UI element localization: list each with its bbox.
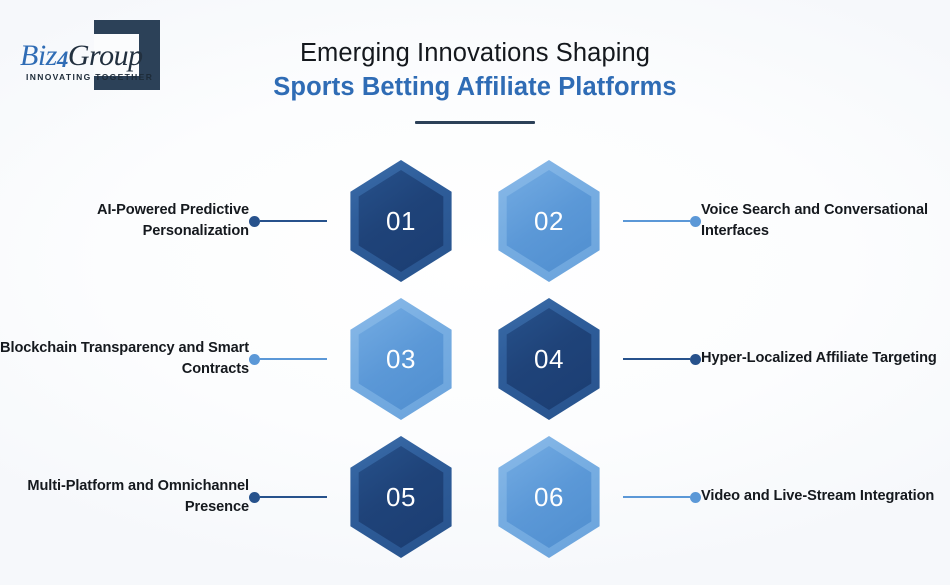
connector-02 — [623, 216, 701, 227]
hexagon-02[interactable]: 02 — [494, 160, 604, 282]
title-underline-rule — [415, 121, 535, 124]
hexagon-number-03: 03 — [346, 298, 456, 420]
hex-slot-03: 03 — [327, 298, 475, 420]
connector-05 — [249, 492, 327, 503]
item-cell-03[interactable]: Blockchain Transparency and Smart Contra… — [0, 338, 249, 380]
items-grid: AI-Powered Predictive Personalization 01… — [0, 152, 950, 566]
connector-dot-05 — [249, 492, 260, 503]
hex-slot-05: 05 — [327, 436, 475, 558]
items-row: Blockchain Transparency and Smart Contra… — [0, 290, 950, 428]
hexagon-01[interactable]: 01 — [346, 160, 456, 282]
connector-dot-02 — [690, 216, 701, 227]
hexagon-04[interactable]: 04 — [494, 298, 604, 420]
connector-06 — [623, 492, 701, 503]
hex-slot-06: 06 — [475, 436, 623, 558]
connector-line-03 — [260, 358, 327, 360]
hexagon-06[interactable]: 06 — [494, 436, 604, 558]
connector-dot-06 — [690, 492, 701, 503]
connector-line-06 — [623, 496, 690, 498]
logo-word-four: 4 — [57, 47, 68, 72]
item-label-02: Voice Search and Conversational Interfac… — [701, 200, 950, 242]
items-row: AI-Powered Predictive Personalization 01… — [0, 152, 950, 290]
items-row: Multi-Platform and Omnichannel Presence … — [0, 428, 950, 566]
item-label-04: Hyper-Localized Affiliate Targeting — [701, 348, 937, 369]
item-label-01: AI-Powered Predictive Personalization — [0, 200, 249, 242]
hexagon-number-01: 01 — [346, 160, 456, 282]
item-cell-06[interactable]: Video and Live-Stream Integration — [701, 486, 950, 507]
connector-04 — [623, 354, 701, 365]
item-cell-01[interactable]: AI-Powered Predictive Personalization — [0, 200, 249, 242]
logo-wordmark: Biz4Group — [20, 39, 143, 73]
connector-line-05 — [260, 496, 327, 498]
hexagon-05[interactable]: 05 — [346, 436, 456, 558]
hexagon-number-04: 04 — [494, 298, 604, 420]
hexagon-03[interactable]: 03 — [346, 298, 456, 420]
connector-03 — [249, 354, 327, 365]
logo-word-biz: Biz — [20, 39, 57, 72]
connector-line-01 — [260, 220, 327, 222]
hex-slot-02: 02 — [475, 160, 623, 282]
hexagon-number-06: 06 — [494, 436, 604, 558]
hex-slot-04: 04 — [475, 298, 623, 420]
hexagon-number-02: 02 — [494, 160, 604, 282]
connector-01 — [249, 216, 327, 227]
connector-dot-03 — [249, 354, 260, 365]
connector-dot-04 — [690, 354, 701, 365]
connector-line-02 — [623, 220, 690, 222]
logo-tagline: INNOVATING TOGETHER — [26, 72, 153, 82]
item-cell-04[interactable]: Hyper-Localized Affiliate Targeting — [701, 348, 950, 369]
item-label-06: Video and Live-Stream Integration — [701, 486, 934, 507]
item-cell-02[interactable]: Voice Search and Conversational Interfac… — [701, 200, 950, 242]
infographic-canvas: Biz4Group INNOVATING TOGETHER Emerging I… — [0, 0, 950, 585]
item-label-03: Blockchain Transparency and Smart Contra… — [0, 338, 249, 380]
item-cell-05[interactable]: Multi-Platform and Omnichannel Presence — [0, 476, 249, 518]
item-label-05: Multi-Platform and Omnichannel Presence — [0, 476, 249, 518]
connector-dot-01 — [249, 216, 260, 227]
connector-line-04 — [623, 358, 690, 360]
hexagon-number-05: 05 — [346, 436, 456, 558]
hex-slot-01: 01 — [327, 160, 475, 282]
logo-word-group: Group — [68, 39, 143, 72]
